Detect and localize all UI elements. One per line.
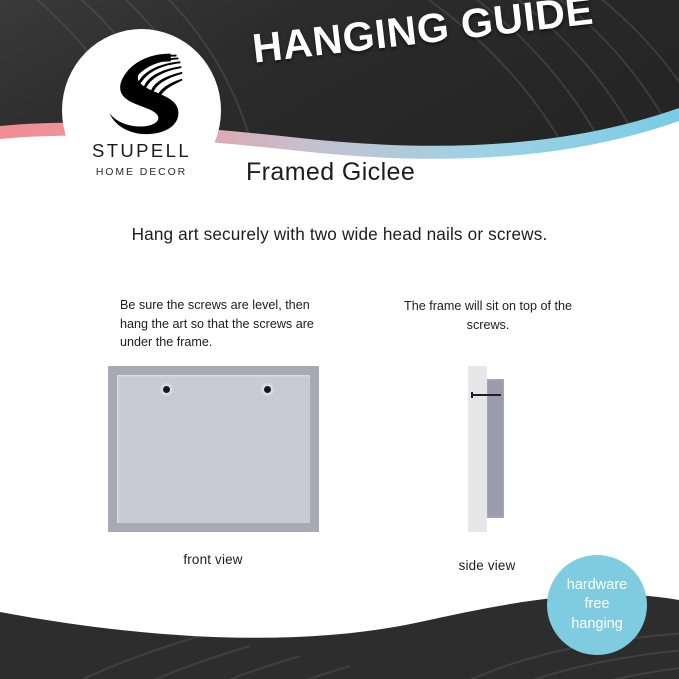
hanging-guide-page: STUPELL HOME DECOR HANGING GUIDE Framed … (0, 0, 679, 679)
front-view-diagram (108, 366, 319, 532)
badge-line-3: hanging (571, 615, 623, 634)
hardware-free-hanging-badge: hardware free hanging (547, 555, 647, 655)
front-view-label: front view (113, 552, 313, 567)
brand-tagline: HOME DECOR (96, 166, 187, 178)
frame-profile (487, 379, 504, 518)
s-swoosh-icon (94, 46, 190, 138)
side-view-caption: The frame will sit on top of the screws. (388, 297, 588, 334)
screw-head-icon (471, 392, 473, 398)
side-view-label: side view (412, 558, 562, 573)
badge-line-1: hardware (567, 576, 627, 595)
picture-frame-mat (117, 375, 310, 523)
screw-dot-left-icon (163, 386, 170, 393)
screw-dot-right-icon (264, 386, 271, 393)
wall-surface (468, 366, 487, 532)
product-type-subtitle: Framed Giclee (246, 158, 415, 187)
side-view-diagram (468, 366, 538, 536)
front-view-caption: Be sure the screws are level, then hang … (95, 296, 335, 352)
screw-shaft-icon (472, 394, 501, 396)
page-title: HANGING GUIDE (250, 0, 596, 73)
brand-name: STUPELL (92, 140, 191, 162)
lead-instruction: Hang art securely with two wide head nai… (0, 224, 679, 245)
badge-line-2: free (585, 595, 610, 614)
brand-logo-badge: STUPELL HOME DECOR (62, 29, 221, 192)
